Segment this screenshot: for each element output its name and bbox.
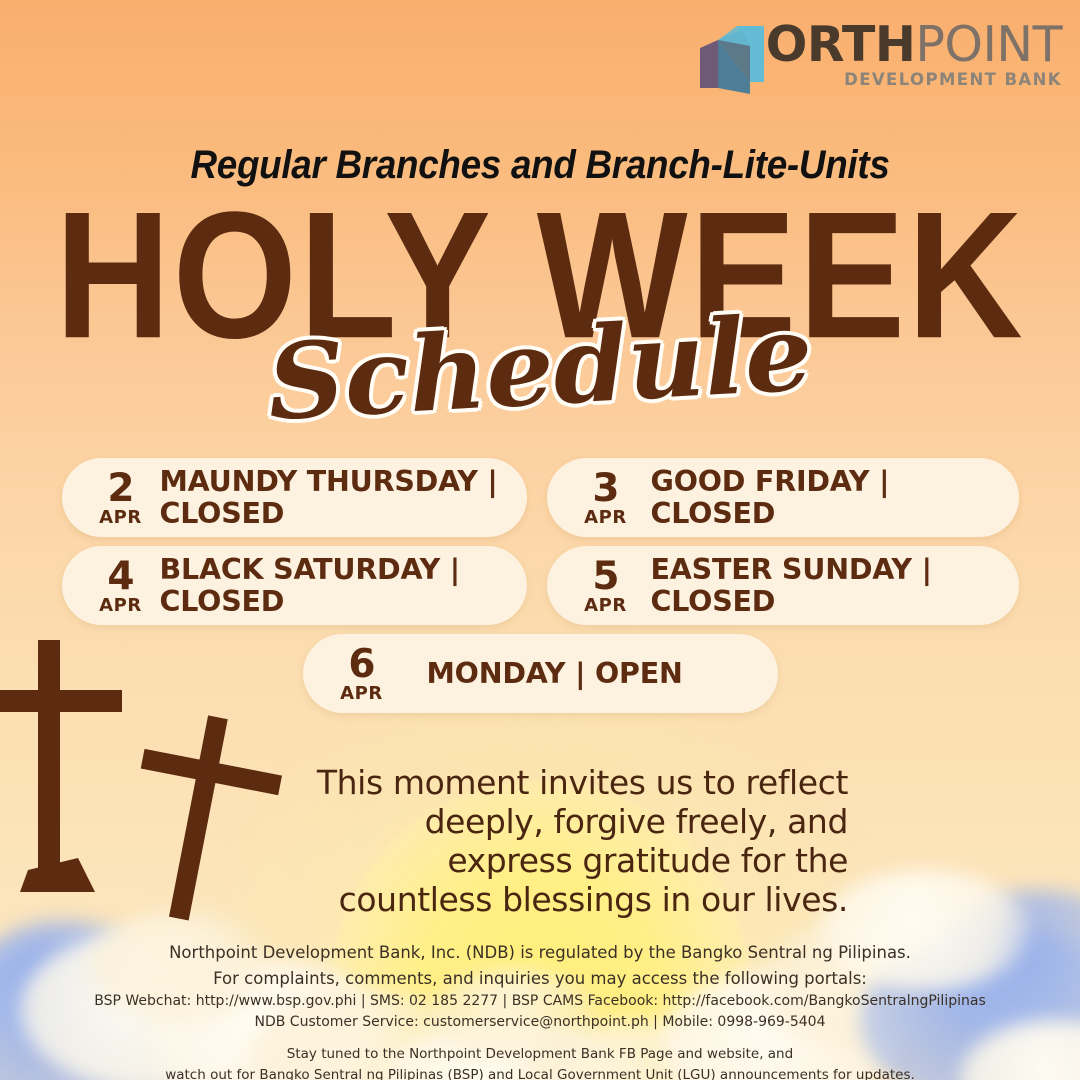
schedule-label: MONDAY | OPEN (427, 658, 683, 689)
footer-line-stay-tuned: Stay tuned to the Northpoint Development… (0, 1044, 1080, 1065)
date-day: 4 (88, 557, 154, 596)
schedule-label: GOOD FRIDAY | CLOSED (651, 466, 999, 529)
schedule-row: 4 APR BLACK SATURDAY | CLOSED 5 APR EAST… (0, 546, 1080, 625)
logo-name-dark: ORTH (766, 16, 916, 73)
date-day: 2 (88, 469, 154, 508)
reflection-text: This moment invites us to reflect deeply… (300, 764, 848, 920)
schedule-item-apr3[interactable]: 3 APR GOOD FRIDAY | CLOSED (547, 458, 1019, 537)
date-badge: 3 APR (573, 469, 639, 527)
footer-line-ndb-contacts: NDB Customer Service: customerservice@no… (0, 1012, 1080, 1033)
logo-name: ORTHPOINT (766, 22, 1062, 69)
footer-line-watch-out: watch out for Bangko Sentral ng Pilipina… (0, 1065, 1080, 1080)
date-day: 3 (573, 469, 639, 508)
schedule-item-apr5[interactable]: 5 APR EASTER SUNDAY | CLOSED (547, 546, 1019, 625)
brand-logo: ORTHPOINT DEVELOPMENT BANK (694, 22, 1062, 94)
date-month: APR (573, 509, 639, 527)
schedule-item-apr6[interactable]: 6 APR MONDAY | OPEN (303, 634, 778, 713)
footer-line-regulation: Northpoint Development Bank, Inc. (NDB) … (0, 940, 1080, 966)
logo-wordmark: ORTHPOINT DEVELOPMENT BANK (766, 22, 1062, 89)
schedule-item-apr2[interactable]: 2 APR MAUNDY THURSDAY | CLOSED (62, 458, 527, 537)
footer-disclaimer: Northpoint Development Bank, Inc. (NDB) … (0, 940, 1080, 1080)
logo-tagline: DEVELOPMENT BANK (766, 70, 1062, 89)
footer-line-complaints: For complaints, comments, and inquiries … (0, 966, 1080, 992)
date-badge: 2 APR (88, 469, 154, 527)
date-badge: 5 APR (573, 557, 639, 615)
date-badge: 4 APR (88, 557, 154, 615)
date-month: APR (573, 597, 639, 615)
schedule-label: EASTER SUNDAY | CLOSED (651, 554, 999, 617)
date-badge: 6 APR (329, 645, 395, 703)
schedule-row: 2 APR MAUNDY THURSDAY | CLOSED 3 APR GOO… (0, 458, 1080, 537)
logo-name-light: POINT (915, 16, 1062, 73)
date-month: APR (88, 509, 154, 527)
date-day: 5 (573, 557, 639, 596)
northpoint-n-mark (694, 26, 768, 94)
crosses-illustration (0, 640, 330, 940)
date-month: APR (88, 597, 154, 615)
cross-large-icon (0, 640, 122, 892)
schedule-label: BLACK SATURDAY | CLOSED (160, 554, 507, 617)
poster-canvas: ORTHPOINT DEVELOPMENT BANK Regular Branc… (0, 0, 1080, 1080)
footer-line-bsp-contacts: BSP Webchat: http://www.bsp.gov.phi | SM… (0, 991, 1080, 1012)
date-month: APR (329, 685, 395, 703)
date-day: 6 (329, 645, 395, 684)
cross-small-icon (114, 705, 291, 933)
schedule-item-apr4[interactable]: 4 APR BLACK SATURDAY | CLOSED (62, 546, 527, 625)
schedule-label: MAUNDY THURSDAY | CLOSED (160, 466, 507, 529)
